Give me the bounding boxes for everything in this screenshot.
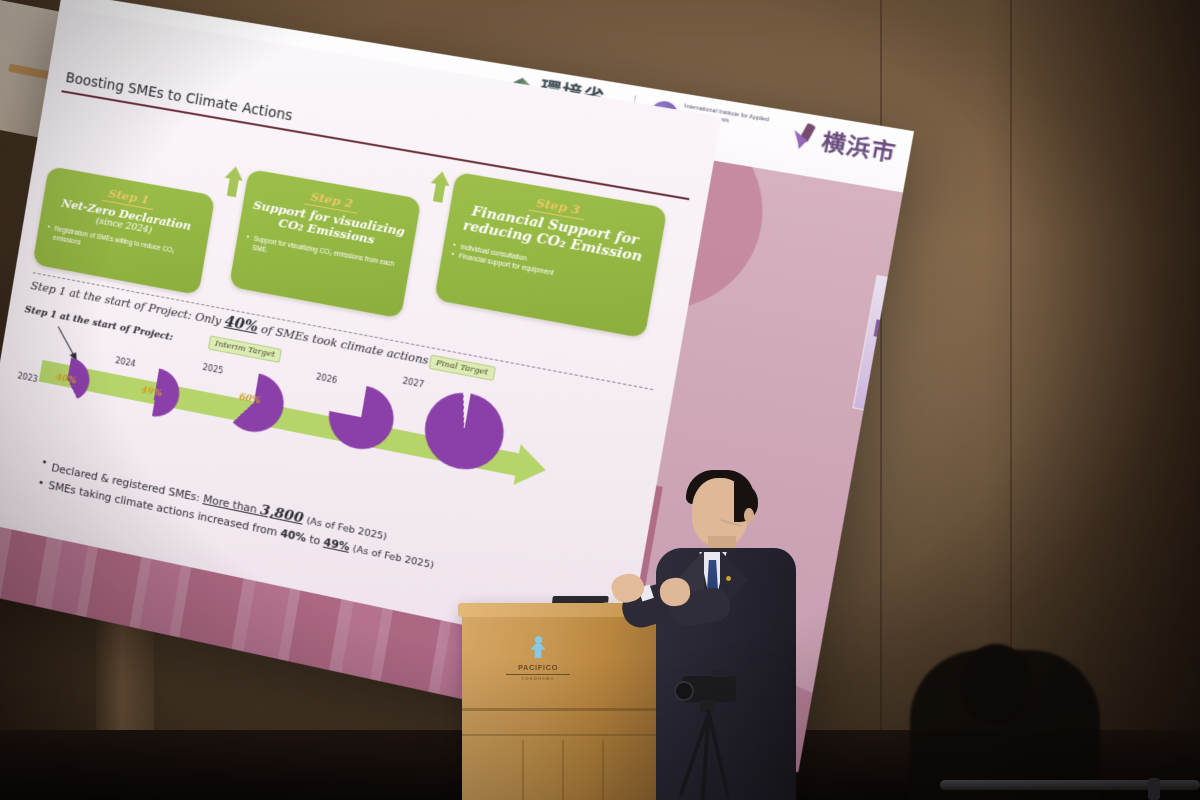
venue-location: YOKOHAMA: [506, 674, 570, 681]
wall-panel-seam: [880, 0, 882, 800]
podium-venue-logo: PACIFICO YOKOHAMA: [506, 636, 570, 681]
step-card-3: Step 3 Financial Support for reducing CO…: [434, 171, 667, 338]
chart-tick-2024: 2024: [115, 356, 137, 369]
venue-name: PACIFICO: [506, 663, 570, 672]
chart-tick-2026: 2026: [315, 372, 337, 385]
step-arrow-icon: [428, 169, 453, 203]
yokohama-mark-icon: [790, 121, 819, 152]
conference-room-scene: 環境省 Ministry of the Environment Internat…: [0, 0, 1200, 800]
footer-2-mid: to: [305, 533, 325, 549]
lapel-pin-icon: [726, 576, 731, 581]
chart-tick-2027: 2027: [402, 376, 425, 389]
step-card-1: Step 1 Net-Zero Declaration (since 2024)…: [32, 166, 215, 295]
chart-tick-2023: 2023: [17, 371, 38, 384]
chart-tick-2025: 2025: [202, 362, 224, 375]
camera-tripod: [676, 676, 756, 800]
stage-rail: [940, 780, 1200, 790]
footer-2-from: 40%: [279, 528, 307, 545]
logo-yokohama-city: 横浜市: [790, 119, 900, 168]
step-card-2: Step 2 Support for visualizing CO₂ Emiss…: [229, 168, 422, 318]
audience-silhouette: [910, 650, 1100, 800]
footer-2-to: 49%: [323, 537, 351, 554]
pacifico-figure-icon: [531, 636, 546, 658]
annotation-interim-target: Interim Target: [208, 335, 282, 363]
step-arrow-icon: [222, 164, 246, 197]
video-camera-icon: [682, 676, 736, 702]
camera-lens-icon: [674, 681, 694, 701]
stage-rail-post: [1148, 778, 1160, 800]
yokohama-name-jp: 横浜市: [820, 124, 900, 168]
